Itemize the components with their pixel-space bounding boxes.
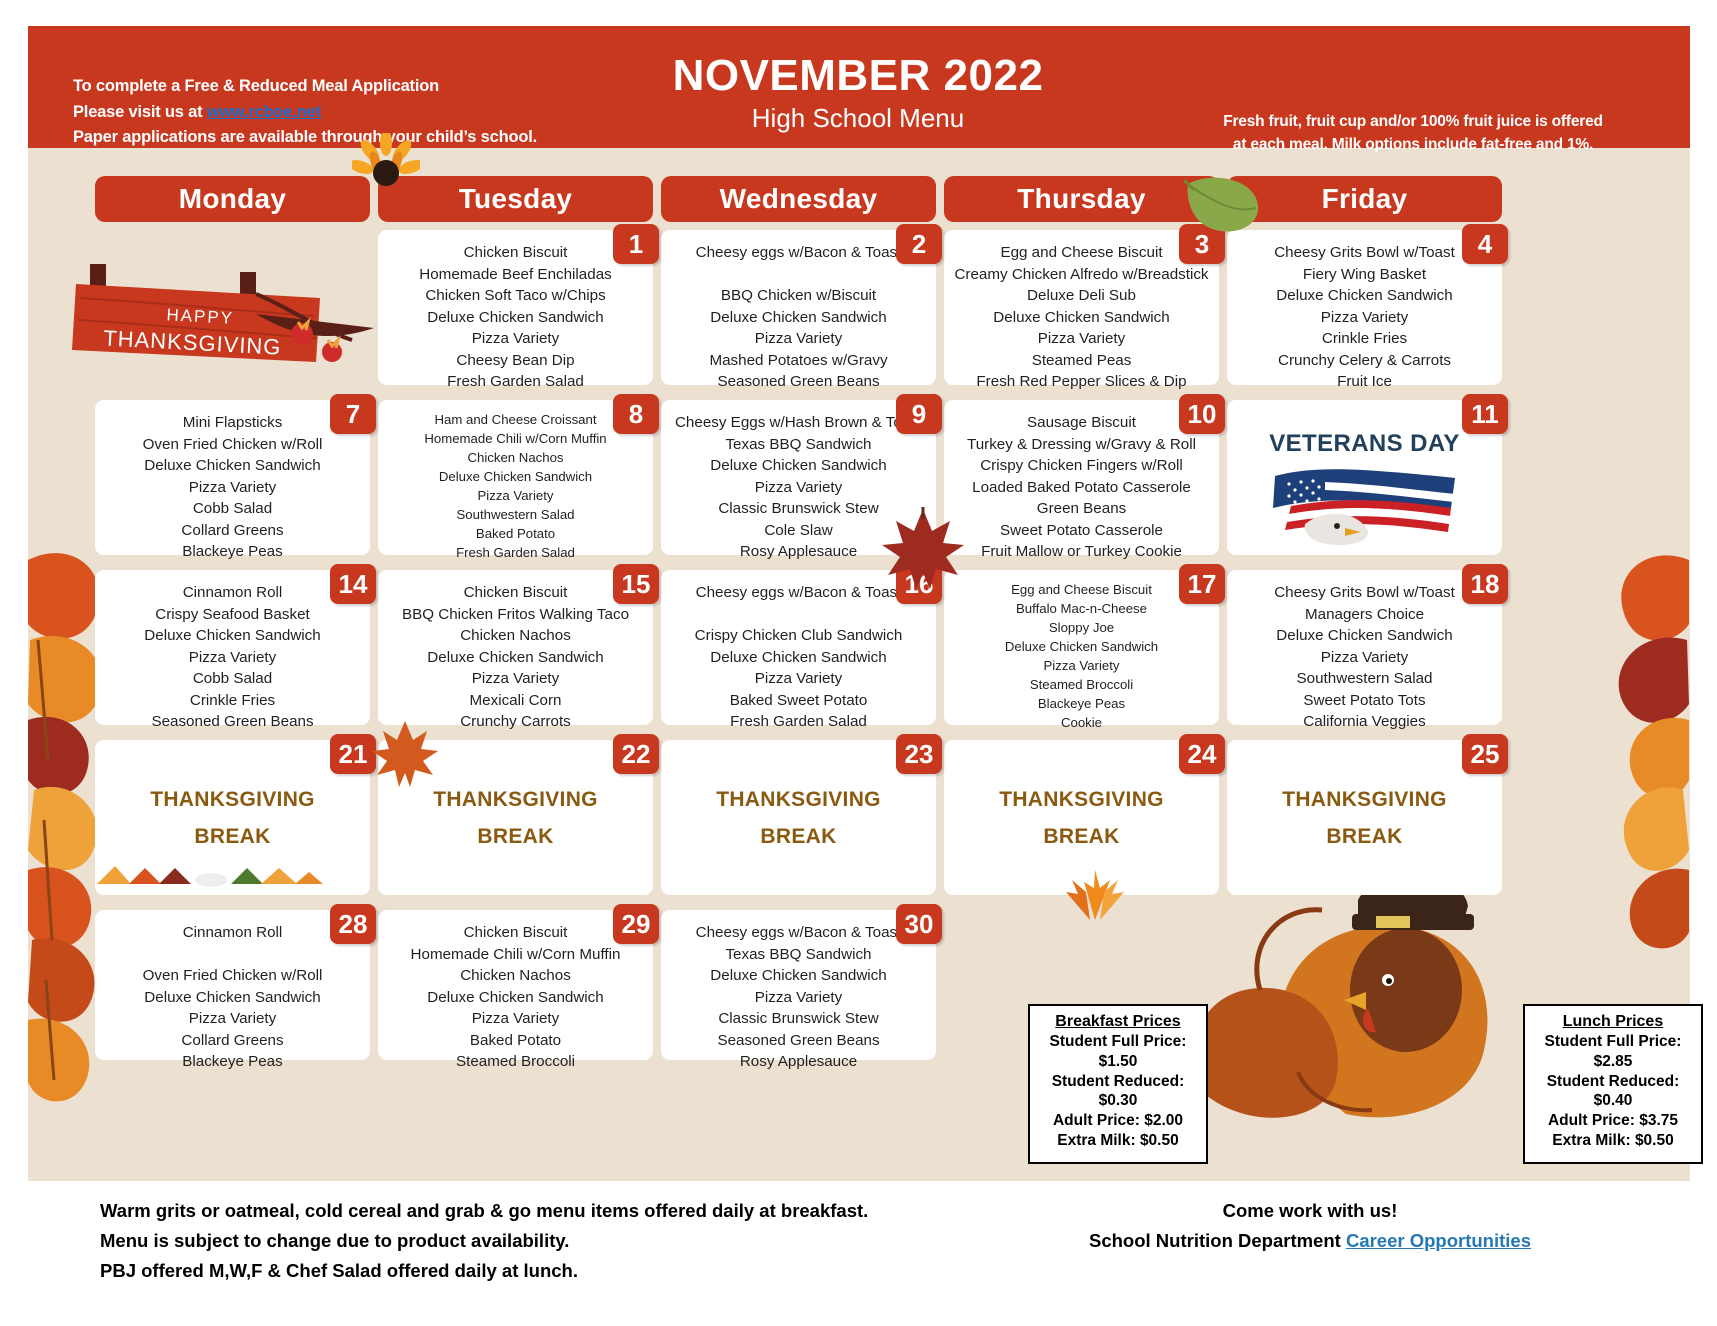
menu-item: Ham and Cheese Croissant — [388, 410, 643, 429]
calendar-day-cell-30: 30Cheesy eggs w/Bacon & ToastTexas BBQ S… — [661, 910, 936, 1060]
lunch-prices-box: Lunch Prices Student Full Price: $2.85 S… — [1523, 1004, 1703, 1164]
menu-item: Deluxe Deli Sub — [954, 285, 1209, 307]
menu-item: Buffalo Mac-n-Cheese — [954, 599, 1209, 618]
footer-note-1: Warm grits or oatmeal, cold cereal and g… — [100, 1196, 920, 1226]
menu-item: Deluxe Chicken Sandwich — [954, 637, 1209, 656]
menu-item: Chicken Nachos — [388, 965, 643, 987]
menu-item: Classic Brunswick Stew — [671, 1008, 926, 1030]
menu-item: Chicken Soft Taco w/Chips — [388, 285, 643, 307]
menu-calendar-page: To complete a Free & Reduced Meal Applic… — [0, 0, 1717, 1326]
menu-item-list: Egg and Cheese BiscuitBuffalo Mac-n-Chee… — [944, 570, 1219, 738]
menu-item: Deluxe Chicken Sandwich — [105, 625, 360, 647]
menu-item: Blackeye Peas — [105, 541, 360, 563]
menu-item: Pizza Variety — [1237, 307, 1492, 329]
day-header-tuesday: Tuesday — [378, 176, 653, 222]
breakfast-price-line-6: Extra Milk: $0.50 — [1036, 1131, 1200, 1151]
day-number-21: 21 — [330, 734, 376, 774]
menu-item-list: Cinnamon Roll Oven Fried Chicken w/RollD… — [95, 910, 370, 1079]
thanksgiving-break-label: THANKSGIVINGBREAK — [944, 782, 1219, 856]
page-subtitle: High School Menu — [548, 104, 1168, 133]
menu-item: Cheesy eggs w/Bacon & Toast — [671, 582, 926, 604]
menu-item: Mashed Potatoes w/Gravy — [671, 350, 926, 372]
break-line-1: THANKSGIVING — [1227, 782, 1502, 819]
menu-item-spacer — [671, 604, 926, 626]
menu-item-list: Chicken BiscuitHomemade Chili w/Corn Muf… — [378, 910, 653, 1079]
day-number-9: 9 — [896, 394, 942, 434]
breakfast-price-line-5: Adult Price: $2.00 — [1036, 1111, 1200, 1131]
day-number-1: 1 — [613, 224, 659, 264]
menu-item: Fresh Garden Salad — [388, 543, 643, 562]
menu-item: Loaded Baked Potato Casserole — [954, 477, 1209, 499]
menu-item: Deluxe Chicken Sandwich — [671, 647, 926, 669]
menu-item-list: Cheesy eggs w/Bacon & Toast BBQ Chicken … — [661, 230, 936, 399]
menu-item: Crispy Chicken Fingers w/Roll — [954, 455, 1209, 477]
menu-item: Oven Fried Chicken w/Roll — [105, 434, 360, 456]
calendar-day-cell-28: 28Cinnamon Roll Oven Fried Chicken w/Rol… — [95, 910, 370, 1060]
menu-item: Sloppy Joe — [954, 618, 1209, 637]
page-header: To complete a Free & Reduced Meal Applic… — [28, 26, 1690, 148]
menu-item: Cheesy Grits Bowl w/Toast — [1237, 582, 1492, 604]
menu-item-list: Cheesy Grits Bowl w/ToastFiery Wing Bask… — [1227, 230, 1502, 399]
american-flag-eagle-icon — [1265, 462, 1465, 548]
menu-item-list: Cheesy eggs w/Bacon & Toast Crispy Chick… — [661, 570, 936, 739]
menu-item: Steamed Broccoli — [388, 1051, 643, 1073]
breakfast-price-line-3: Student Reduced: — [1036, 1072, 1200, 1092]
footer-notes: Warm grits or oatmeal, cold cereal and g… — [100, 1196, 920, 1286]
menu-item: Southwestern Salad — [388, 505, 643, 524]
menu-item: Crispy Chicken Club Sandwich — [671, 625, 926, 647]
menu-item: Mini Flapsticks — [105, 412, 360, 434]
menu-item: Collard Greens — [105, 1030, 360, 1052]
lunch-price-line-6: Extra Milk: $0.50 — [1531, 1131, 1695, 1151]
thanksgiving-break-label: THANKSGIVINGBREAK — [95, 782, 370, 856]
breakfast-price-line-1: Student Full Price: — [1036, 1032, 1200, 1052]
menu-item: Homemade Chili w/Corn Muffin — [388, 429, 643, 448]
menu-item: Baked Sweet Potato — [671, 690, 926, 712]
menu-item-list: Cheesy Grits Bowl w/ToastManagers Choice… — [1227, 570, 1502, 739]
thanksgiving-break-label: THANKSGIVINGBREAK — [1227, 782, 1502, 856]
calendar-day-cell-3: 3Egg and Cheese BiscuitCreamy Chicken Al… — [944, 230, 1219, 385]
lunch-price-line-4: $0.40 — [1531, 1091, 1695, 1111]
menu-item: Turkey & Dressing w/Gravy & Roll — [954, 434, 1209, 456]
calendar-day-cell-11: 11VETERANS DAY — [1227, 400, 1502, 555]
district-website-link[interactable]: www.rcboe.net — [207, 103, 321, 121]
menu-item: Crispy Seafood Basket — [105, 604, 360, 626]
day-number-16: 16 — [896, 564, 942, 604]
career-opportunities-link[interactable]: Career Opportunities — [1346, 1230, 1531, 1251]
menu-item: Pizza Variety — [954, 328, 1209, 350]
thanksgiving-break-label: THANKSGIVINGBREAK — [661, 782, 936, 856]
menu-item: Pizza Variety — [671, 477, 926, 499]
menu-item: Cheesy eggs w/Bacon & Toast — [671, 922, 926, 944]
menu-item: Mexicali Corn — [388, 690, 643, 712]
menu-item-list: Egg and Cheese BiscuitCreamy Chicken Alf… — [944, 230, 1219, 399]
break-line-1: THANKSGIVING — [944, 782, 1219, 819]
menu-item: Pizza Variety — [105, 1008, 360, 1030]
menu-item: Fiery Wing Basket — [1237, 264, 1492, 286]
sign-line-1-text: HAPPY — [166, 305, 235, 328]
menu-item: Cinnamon Roll — [105, 922, 360, 944]
footer-note-3: PBJ offered M,W,F & Chef Salad offered d… — [100, 1256, 920, 1286]
day-number-28: 28 — [330, 904, 376, 944]
calendar-day-cell-7: 7Mini FlapsticksOven Fried Chicken w/Rol… — [95, 400, 370, 555]
menu-item: Cobb Salad — [105, 498, 360, 520]
menu-item-list: Mini FlapsticksOven Fried Chicken w/Roll… — [95, 400, 370, 569]
break-line-2: BREAK — [95, 819, 370, 856]
lunch-price-line-2: $2.85 — [1531, 1052, 1695, 1072]
page-title: NOVEMBER 2022 — [548, 52, 1168, 100]
lunch-price-line-3: Student Reduced: — [1531, 1072, 1695, 1092]
menu-item: Pizza Variety — [671, 328, 926, 350]
day-number-3: 3 — [1179, 224, 1225, 264]
menu-item: Cookie — [954, 713, 1209, 732]
menu-item: Egg and Cheese Biscuit — [954, 580, 1209, 599]
lunch-price-line-1: Student Full Price: — [1531, 1032, 1695, 1052]
menu-item: Southwestern Salad — [1237, 668, 1492, 690]
veterans-day-label: VETERANS DAY — [1227, 430, 1502, 458]
menu-item: Pizza Variety — [954, 656, 1209, 675]
calendar-day-cell-29: 29Chicken BiscuitHomemade Chili w/Corn M… — [378, 910, 653, 1060]
menu-item: Deluxe Chicken Sandwich — [388, 307, 643, 329]
break-line-1: THANKSGIVING — [378, 782, 653, 819]
menu-item: Texas BBQ Sandwich — [671, 944, 926, 966]
menu-item: Crunchy Carrots — [388, 711, 643, 733]
break-line-2: BREAK — [661, 819, 936, 856]
application-line-1: To complete a Free & Reduced Meal Applic… — [73, 74, 593, 100]
menu-item: Cheesy Bean Dip — [388, 350, 643, 372]
break-line-2: BREAK — [1227, 819, 1502, 856]
day-number-11: 11 — [1462, 394, 1508, 434]
calendar-day-cell-9: 9Cheesy Eggs w/Hash Brown & ToastTexas B… — [661, 400, 936, 555]
day-number-23: 23 — [896, 734, 942, 774]
menu-item: Chicken Biscuit — [388, 922, 643, 944]
menu-item: Deluxe Chicken Sandwich — [105, 455, 360, 477]
menu-item: Sweet Potato Tots — [1237, 690, 1492, 712]
menu-item: Blackeye Peas — [954, 694, 1209, 713]
lunch-prices-title: Lunch Prices — [1531, 1013, 1695, 1031]
menu-item: Cheesy Grits Bowl w/Toast — [1237, 242, 1492, 264]
day-header-monday: Monday — [95, 176, 370, 222]
menu-item: Deluxe Chicken Sandwich — [388, 467, 643, 486]
menu-item: Seasoned Green Beans — [671, 1030, 926, 1052]
menu-item: Steamed Peas — [954, 350, 1209, 372]
menu-item: Creamy Chicken Alfredo w/Breadstick — [954, 264, 1209, 286]
breakfast-price-line-4: $0.30 — [1036, 1091, 1200, 1111]
menu-item-list: Cinnamon RollCrispy Seafood BasketDeluxe… — [95, 570, 370, 739]
menu-item: Seasoned Green Beans — [105, 711, 360, 733]
menu-item-list: Chicken BiscuitHomemade Beef EnchiladasC… — [378, 230, 653, 399]
day-number-22: 22 — [613, 734, 659, 774]
lunch-price-line-5: Adult Price: $3.75 — [1531, 1111, 1695, 1131]
meal-note-line-2: at each meal. Milk options include fat-f… — [1178, 133, 1648, 156]
menu-item: Pizza Variety — [388, 1008, 643, 1030]
meal-note-line-1: Fresh fruit, fruit cup and/or 100% fruit… — [1178, 110, 1648, 133]
menu-item: Deluxe Chicken Sandwich — [105, 987, 360, 1009]
menu-item: Fresh Garden Salad — [671, 711, 926, 733]
day-number-14: 14 — [330, 564, 376, 604]
menu-item: Cinnamon Roll — [105, 582, 360, 604]
menu-item-spacer — [671, 264, 926, 286]
school-nutrition-line: School Nutrition Department Career Oppor… — [1000, 1226, 1620, 1256]
menu-item: Cheesy eggs w/Bacon & Toast — [671, 242, 926, 264]
menu-item: Pizza Variety — [388, 328, 643, 350]
menu-item: Deluxe Chicken Sandwich — [954, 307, 1209, 329]
berry-branch-decoration — [256, 288, 376, 378]
menu-item: BBQ Chicken w/Biscuit — [671, 285, 926, 307]
menu-item: BBQ Chicken Fritos Walking Taco — [388, 604, 643, 626]
application-line-2: Please visit us at www.rcboe.net — [73, 100, 593, 126]
calendar-day-cell-25: 25THANKSGIVINGBREAK — [1227, 740, 1502, 895]
calendar-day-cell-22: 22THANKSGIVINGBREAK — [378, 740, 653, 895]
come-work-with-us-text: Come work with us! — [1000, 1196, 1620, 1226]
menu-item: Sweet Potato Casserole — [954, 520, 1209, 542]
break-line-1: THANKSGIVING — [661, 782, 936, 819]
careers-note: Come work with us! School Nutrition Depa… — [1000, 1196, 1620, 1256]
menu-item: Deluxe Chicken Sandwich — [1237, 285, 1492, 307]
school-nutrition-label: School Nutrition Department — [1089, 1230, 1346, 1251]
menu-item: Baked Potato — [388, 1030, 643, 1052]
break-line-1: THANKSGIVING — [95, 782, 370, 819]
menu-item: Fruit Mallow or Turkey Cookie — [954, 541, 1209, 563]
menu-item: Texas BBQ Sandwich — [671, 434, 926, 456]
breakfast-prices-title: Breakfast Prices — [1036, 1013, 1200, 1031]
day-number-29: 29 — [613, 904, 659, 944]
breakfast-prices-box: Breakfast Prices Student Full Price: $1.… — [1028, 1004, 1208, 1164]
menu-item: Cheesy Eggs w/Hash Brown & Toast — [671, 412, 926, 434]
menu-item: Deluxe Chicken Sandwich — [1237, 625, 1492, 647]
menu-item-list: Ham and Cheese CroissantHomemade Chili w… — [378, 400, 653, 568]
day-number-7: 7 — [330, 394, 376, 434]
menu-item: Fruit Ice — [1237, 371, 1492, 393]
calendar-day-cell-4: 4Cheesy Grits Bowl w/ToastFiery Wing Bas… — [1227, 230, 1502, 385]
application-line-3: Paper applications are available through… — [73, 125, 593, 151]
meal-components-note: Fresh fruit, fruit cup and/or 100% fruit… — [1178, 110, 1648, 157]
menu-item: Fresh Garden Salad — [388, 371, 643, 393]
menu-item: Sausage Biscuit — [954, 412, 1209, 434]
day-number-10: 10 — [1179, 394, 1225, 434]
day-number-8: 8 — [613, 394, 659, 434]
footer-note-2: Menu is subject to change due to product… — [100, 1226, 920, 1256]
menu-item: Cole Slaw — [671, 520, 926, 542]
day-number-24: 24 — [1179, 734, 1225, 774]
menu-item: Homemade Beef Enchiladas — [388, 264, 643, 286]
menu-item: Deluxe Chicken Sandwich — [388, 987, 643, 1009]
menu-item: Pizza Variety — [105, 647, 360, 669]
menu-item-list: Chicken BiscuitBBQ Chicken Fritos Walkin… — [378, 570, 653, 739]
calendar-day-cell-15: 15Chicken BiscuitBBQ Chicken Fritos Walk… — [378, 570, 653, 725]
day-number-18: 18 — [1462, 564, 1508, 604]
calendar-day-cell-1: 1Chicken BiscuitHomemade Beef Enchiladas… — [378, 230, 653, 385]
menu-item: California Veggies — [1237, 711, 1492, 733]
menu-item-spacer — [105, 944, 360, 966]
right-foliage-decoration — [1569, 540, 1689, 960]
day-number-4: 4 — [1462, 224, 1508, 264]
menu-item: Deluxe Chicken Sandwich — [671, 307, 926, 329]
day-number-30: 30 — [896, 904, 942, 944]
day-header-thursday: Thursday — [944, 176, 1219, 222]
menu-item: Pizza Variety — [1237, 647, 1492, 669]
menu-item: Deluxe Chicken Sandwich — [671, 965, 926, 987]
menu-item: Crunchy Celery & Carrots — [1237, 350, 1492, 372]
header-titles: NOVEMBER 2022 High School Menu — [548, 52, 1168, 133]
menu-item: Deluxe Chicken Sandwich — [671, 455, 926, 477]
calendar-day-cell-16: 16Cheesy eggs w/Bacon & Toast Crispy Chi… — [661, 570, 936, 725]
calendar-day-cell-8: 8Ham and Cheese CroissantHomemade Chili … — [378, 400, 653, 555]
menu-item-list: Cheesy eggs w/Bacon & ToastTexas BBQ San… — [661, 910, 936, 1079]
menu-item: Pizza Variety — [671, 668, 926, 690]
breakfast-price-line-2: $1.50 — [1036, 1052, 1200, 1072]
menu-item: Chicken Biscuit — [388, 582, 643, 604]
menu-item: Pizza Variety — [105, 477, 360, 499]
free-reduced-application-note: To complete a Free & Reduced Meal Applic… — [73, 74, 593, 151]
day-number-17: 17 — [1179, 564, 1225, 604]
menu-item: Chicken Biscuit — [388, 242, 643, 264]
calendar-day-cell-24: 24THANKSGIVINGBREAK — [944, 740, 1219, 895]
menu-item: Deluxe Chicken Sandwich — [388, 647, 643, 669]
menu-item: Managers Choice — [1237, 604, 1492, 626]
day-number-15: 15 — [613, 564, 659, 604]
menu-item-list: Cheesy Eggs w/Hash Brown & ToastTexas BB… — [661, 400, 936, 569]
break-line-2: BREAK — [944, 819, 1219, 856]
calendar-day-cell-23: 23THANKSGIVINGBREAK — [661, 740, 936, 895]
menu-item: Oven Fried Chicken w/Roll — [105, 965, 360, 987]
break-line-2: BREAK — [378, 819, 653, 856]
menu-item: Rosy Applesauce — [671, 541, 926, 563]
menu-item: Green Beans — [954, 498, 1209, 520]
thanksgiving-break-label: THANKSGIVINGBREAK — [378, 782, 653, 856]
visit-us-prefix: Please visit us at — [73, 103, 207, 121]
menu-item: Crinkle Fries — [105, 690, 360, 712]
day-header-friday: Friday — [1227, 176, 1502, 222]
menu-item: Pizza Variety — [671, 987, 926, 1009]
calendar-day-cell-14: 14Cinnamon RollCrispy Seafood BasketDelu… — [95, 570, 370, 725]
menu-item: Collard Greens — [105, 520, 360, 542]
day-number-25: 25 — [1462, 734, 1508, 774]
menu-item: Baked Potato — [388, 524, 643, 543]
menu-item: Chicken Nachos — [388, 625, 643, 647]
calendar-day-cell-2: 2Cheesy eggs w/Bacon & Toast BBQ Chicken… — [661, 230, 936, 385]
calendar-day-cell-18: 18Cheesy Grits Bowl w/ToastManagers Choi… — [1227, 570, 1502, 725]
menu-item: Crinkle Fries — [1237, 328, 1492, 350]
day-header-wednesday: Wednesday — [661, 176, 936, 222]
menu-item: Cobb Salad — [105, 668, 360, 690]
menu-item: Rosy Applesauce — [671, 1051, 926, 1073]
calendar-day-cell-10: 10Sausage BiscuitTurkey & Dressing w/Gra… — [944, 400, 1219, 555]
menu-item: Fresh Red Pepper Slices & Dip — [954, 371, 1209, 393]
menu-item-list: Sausage BiscuitTurkey & Dressing w/Gravy… — [944, 400, 1219, 569]
calendar-day-cell-17: 17Egg and Cheese BiscuitBuffalo Mac-n-Ch… — [944, 570, 1219, 725]
menu-item: Classic Brunswick Stew — [671, 498, 926, 520]
menu-item: Steamed Broccoli — [954, 675, 1209, 694]
veterans-day-block: VETERANS DAY — [1227, 430, 1502, 553]
day-number-2: 2 — [896, 224, 942, 264]
menu-item: Homemade Chili w/Corn Muffin — [388, 944, 643, 966]
menu-item: Blackeye Peas — [105, 1051, 360, 1073]
menu-item: Pizza Variety — [388, 668, 643, 690]
menu-item: Seasoned Green Beans — [671, 371, 926, 393]
vegetable-strip-decoration — [95, 862, 325, 896]
menu-item: Pizza Variety — [388, 486, 643, 505]
menu-item: Chicken Nachos — [388, 448, 643, 467]
menu-item: Egg and Cheese Biscuit — [954, 242, 1209, 264]
